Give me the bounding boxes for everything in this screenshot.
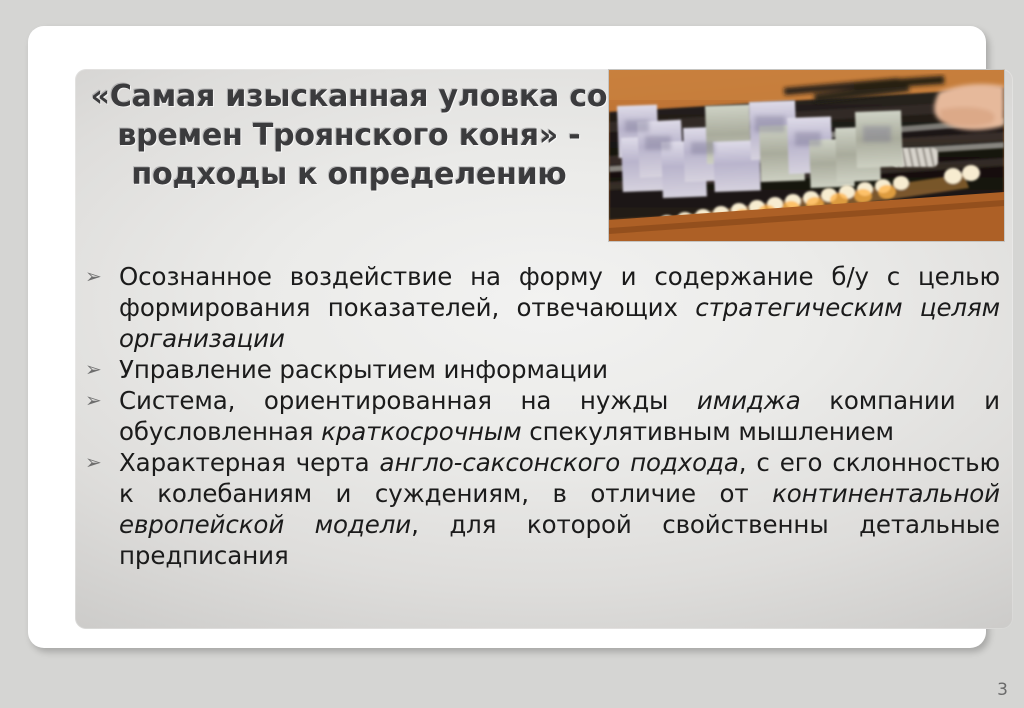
list-item: ➢ Осознанное воздействие на форму и соде… bbox=[78, 261, 1008, 354]
page-number: 3 bbox=[997, 680, 1008, 700]
list-item-text: Осознанное воздействие на форму и содерж… bbox=[119, 261, 1008, 354]
slide-stage: «Самая изысканная уловка со времен Троян… bbox=[0, 0, 1024, 708]
list-item: ➢ Система, ориентированная на нужды имид… bbox=[78, 385, 1008, 447]
list-item-text: Характерная черта англо-саксонского подх… bbox=[119, 447, 1008, 571]
photo-illustration bbox=[609, 70, 1004, 241]
list-item: ➢ Характерная черта англо-саксонского по… bbox=[78, 447, 1008, 571]
arrow-bullet-icon: ➢ bbox=[78, 261, 119, 292]
list-item-text: Система, ориентированная на нужды имиджа… bbox=[119, 385, 1008, 447]
slide-card: «Самая изысканная уловка со времен Троян… bbox=[28, 26, 986, 648]
slide-title: «Самая изысканная уловка со времен Троян… bbox=[89, 77, 609, 194]
slide-content-panel: «Самая изысканная уловка со времен Троян… bbox=[75, 69, 1013, 629]
arrow-bullet-icon: ➢ bbox=[78, 447, 119, 478]
banknotes-on-counting-machine-photo bbox=[608, 69, 1005, 242]
arrow-bullet-icon: ➢ bbox=[78, 354, 119, 385]
list-item-text: Управление раскрытием информации bbox=[119, 354, 1008, 385]
bullet-list: ➢ Осознанное воздействие на форму и соде… bbox=[78, 261, 1008, 571]
arrow-bullet-icon: ➢ bbox=[78, 385, 119, 416]
list-item: ➢ Управление раскрытием информации bbox=[78, 354, 1008, 385]
